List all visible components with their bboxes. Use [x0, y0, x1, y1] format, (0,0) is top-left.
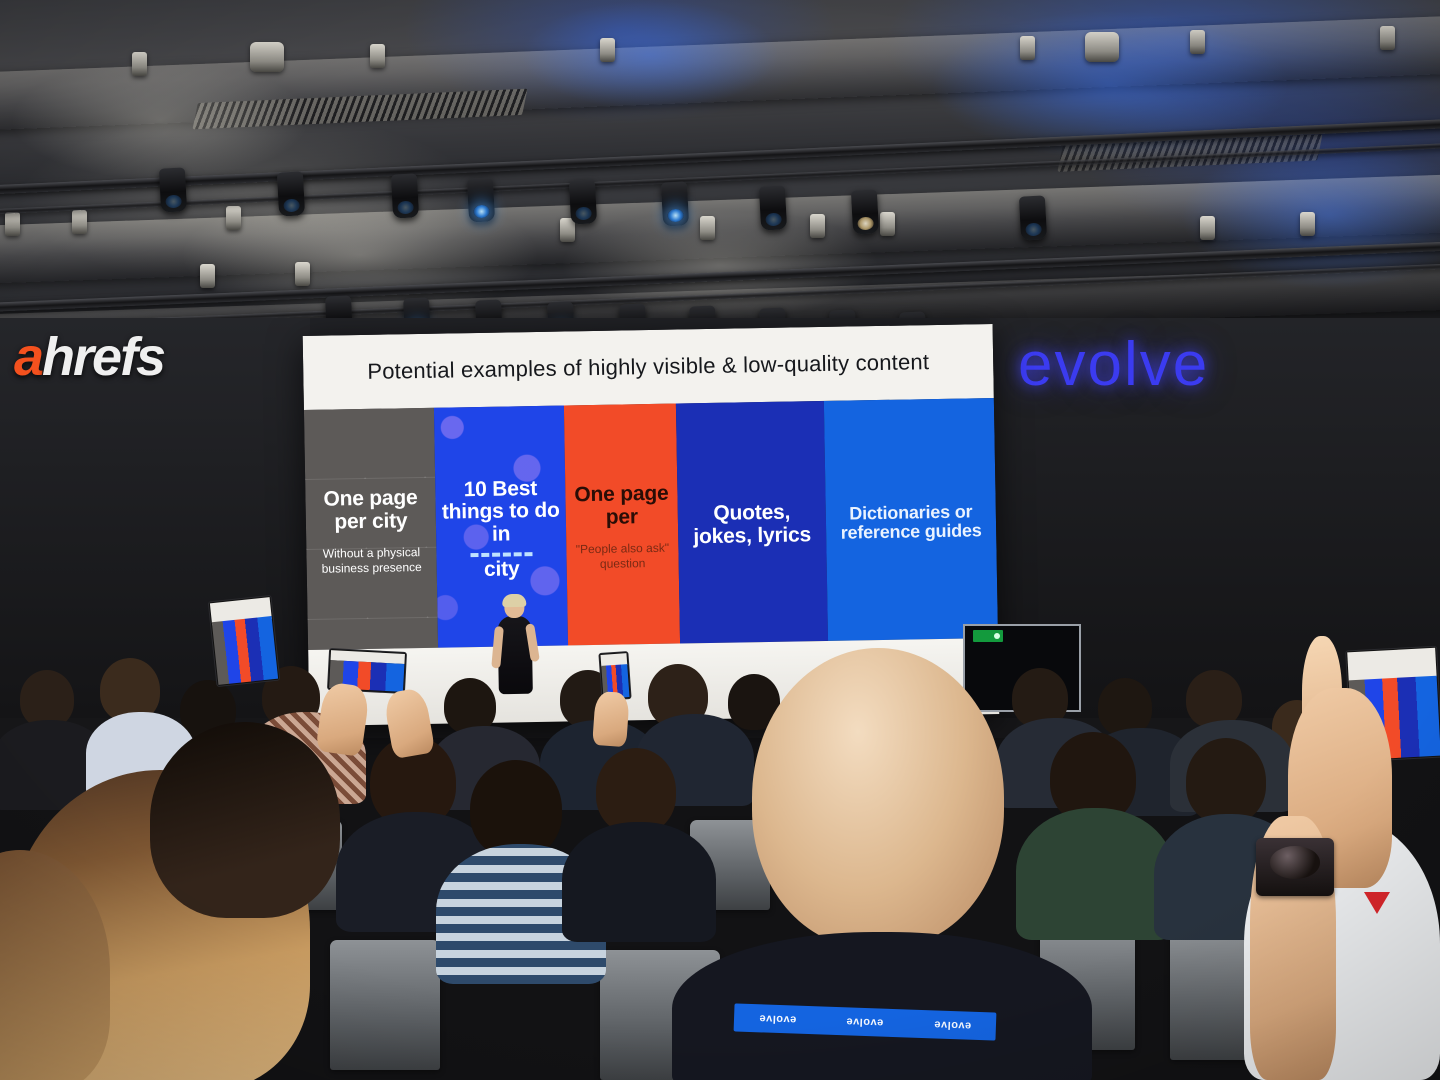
column-subtext: "People also ask" question	[570, 540, 675, 572]
conference-photo-scene: ahrefs evolve Potential examples of high…	[0, 0, 1440, 1080]
ahrefs-logo-a: a	[14, 327, 42, 387]
slide-column-quotes-jokes-lyrics: Quotes, jokes, lyrics	[676, 401, 828, 644]
audience-head	[1186, 738, 1266, 824]
ceiling-slab	[0, 173, 1440, 285]
phone-screen-slide	[212, 616, 278, 685]
moving-head-light	[277, 171, 305, 216]
slide-title: Potential examples of highly visible & l…	[367, 349, 929, 385]
lanyard-text: evolve	[759, 1012, 797, 1025]
ceiling	[0, 0, 1440, 340]
can-light	[132, 52, 147, 76]
can-light	[72, 210, 87, 234]
can-light	[226, 206, 241, 230]
speaker-hair	[502, 594, 526, 607]
column-heading: One page per city	[309, 487, 432, 534]
audience-hand	[592, 691, 630, 747]
slide-columns: One page per city Without a physical bus…	[304, 398, 998, 650]
can-light	[1300, 212, 1315, 236]
can-light	[1380, 26, 1395, 50]
foreground-audience-head-dark	[150, 722, 340, 918]
column-heading: Dictionaries or reference guides	[830, 502, 993, 544]
audience: evolve evolve evolve	[0, 640, 1440, 1080]
can-light	[700, 216, 715, 240]
audience-shoulders	[1016, 808, 1174, 940]
seat-back	[330, 940, 440, 1070]
moving-head-light	[759, 185, 787, 230]
evolve-logo: evolve	[1018, 334, 1209, 396]
moving-head-light	[1019, 195, 1047, 240]
shirt-logo-icon	[1364, 892, 1390, 914]
can-light	[295, 262, 310, 286]
can-light	[1200, 216, 1215, 240]
audience-shoulders	[562, 822, 716, 942]
column-heading-tail: city	[484, 558, 520, 581]
column-subtext: Without a physical business presence	[310, 544, 433, 576]
wristwatch	[1256, 838, 1334, 896]
column-heading: 10 Best things to do in	[439, 477, 562, 547]
can-light	[880, 212, 895, 236]
can-light	[370, 44, 385, 68]
slide-column-one-page-per: One page per "People also ask" question	[564, 404, 680, 646]
moving-head-light	[661, 181, 689, 226]
lanyard-text: evolve	[933, 1018, 971, 1031]
foreground-audience-head-bald	[752, 648, 1004, 948]
can-light	[600, 38, 615, 62]
can-light	[1190, 30, 1205, 54]
moving-head-light	[569, 179, 597, 224]
can-light	[250, 42, 284, 72]
can-light	[1020, 36, 1035, 60]
slide-title-bar: Potential examples of highly visible & l…	[303, 324, 994, 410]
can-light	[1085, 32, 1119, 62]
column-heading: Quotes, jokes, lyrics	[682, 501, 823, 549]
moving-head-light	[467, 177, 495, 222]
ahrefs-logo-rest: hrefs	[42, 327, 164, 387]
moving-head-light	[851, 189, 879, 234]
ahrefs-logo: ahrefs	[14, 330, 164, 384]
can-light	[810, 214, 825, 238]
audience-phone-recording	[208, 595, 281, 687]
slide-column-dictionaries: Dictionaries or reference guides	[824, 398, 998, 641]
slide-column-one-page-per-city: One page per city Without a physical bus…	[304, 408, 438, 650]
can-light	[5, 212, 20, 236]
moving-head-light	[159, 167, 187, 212]
moving-head-light	[391, 173, 419, 218]
column-heading: One page per	[569, 483, 674, 530]
lanyard-text: evolve	[846, 1015, 884, 1028]
can-light	[200, 264, 215, 288]
